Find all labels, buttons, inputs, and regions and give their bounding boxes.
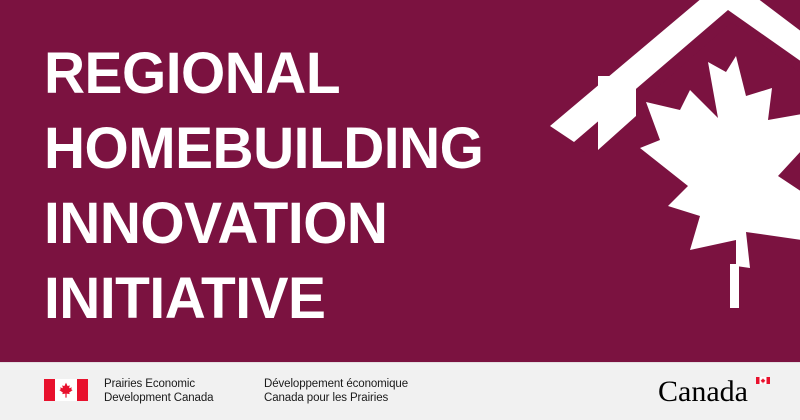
canadian-flag-icon — [44, 379, 88, 401]
title-line-1: REGIONAL — [44, 36, 483, 111]
title-line-3: INNOVATION — [44, 186, 483, 261]
canada-wordmark-text: Canada — [658, 377, 748, 407]
signature-text-french: Développement économique Canada pour les… — [264, 378, 464, 405]
hero-section: REGIONAL HOMEBUILDING INNOVATION INITIAT… — [0, 0, 800, 362]
title-line-4: INITIATIVE — [44, 261, 483, 336]
maple-leaf-icon — [640, 56, 800, 308]
house-roof-icon — [550, 0, 800, 152]
title-line-2: HOMEBUILDING — [44, 111, 483, 186]
chimney-icon — [598, 76, 636, 150]
canada-wordmark: Canada — [658, 377, 770, 407]
maple-leaf-stem — [730, 264, 739, 308]
canada-wordmark-flag-icon — [756, 377, 770, 384]
hero-graphic — [540, 0, 800, 362]
signature-text-english: Prairies Economic Development Canada — [104, 378, 254, 405]
footer-bar: Prairies Economic Development Canada Dév… — [0, 362, 800, 420]
page-title: REGIONAL HOMEBUILDING INNOVATION INITIAT… — [44, 36, 492, 336]
banner: REGIONAL HOMEBUILDING INNOVATION INITIAT… — [0, 0, 800, 420]
federal-identity-signature: Prairies Economic Development Canada Dév… — [44, 378, 464, 405]
